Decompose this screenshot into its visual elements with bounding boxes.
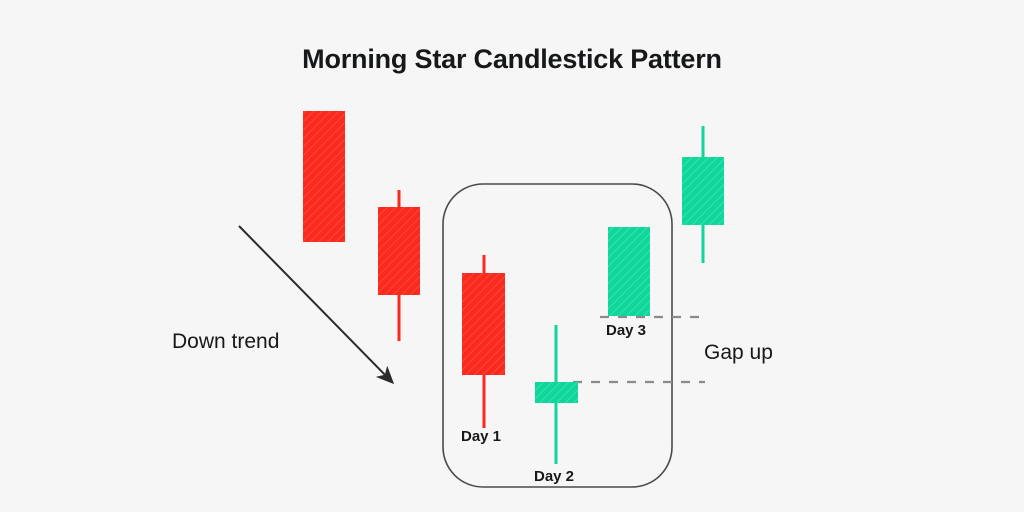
page-title: Morning Star Candlestick Pattern bbox=[0, 44, 1024, 75]
candle-1 bbox=[303, 111, 345, 242]
candle-day2-body bbox=[535, 382, 578, 403]
candle-6-body bbox=[682, 157, 724, 225]
day1-label: Day 1 bbox=[461, 428, 501, 445]
gap-up-label: Gap up bbox=[704, 341, 773, 365]
candle-1-body bbox=[303, 111, 345, 242]
day3-label: Day 3 bbox=[606, 322, 646, 339]
candlestick-diagram bbox=[0, 0, 1024, 512]
candle-2 bbox=[378, 190, 420, 341]
down-trend-arrow bbox=[239, 226, 392, 382]
day2-label: Day 2 bbox=[534, 468, 574, 485]
candle-day3 bbox=[608, 227, 650, 316]
down-trend-label: Down trend bbox=[172, 330, 279, 354]
candle-day3-body bbox=[608, 227, 650, 316]
candle-day1 bbox=[462, 255, 505, 428]
candle-day2 bbox=[535, 325, 578, 464]
candle-2-body bbox=[378, 207, 420, 295]
candle-day1-body bbox=[462, 273, 505, 375]
illustration-canvas: Morning Star Candlestick Pattern Down tr… bbox=[0, 0, 1024, 512]
candle-6 bbox=[682, 126, 724, 263]
